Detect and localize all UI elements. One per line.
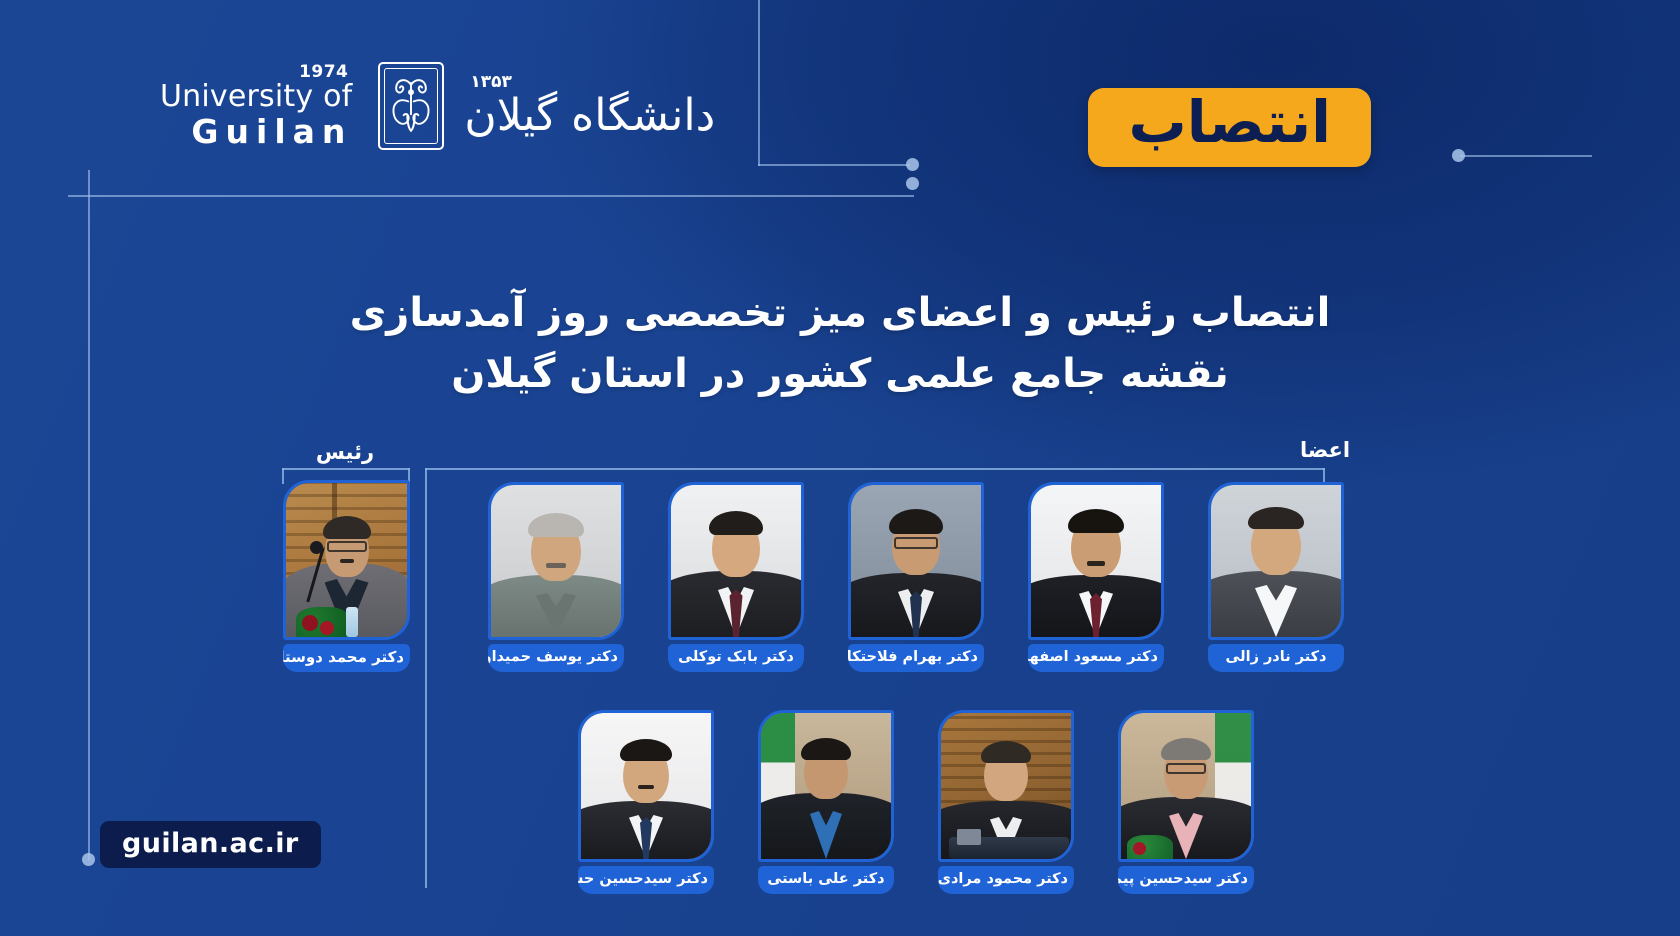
logo-name-english: Guilan: [160, 115, 352, 149]
person-photo: [668, 482, 804, 640]
person-card-member[interactable]: دکتر محمود مرادی: [938, 710, 1074, 894]
logo-name-persian: دانشگاه گیلان: [464, 94, 715, 138]
logo-year-shamsi: ۱۳۵۳: [470, 74, 715, 91]
person-card-member[interactable]: دکتر نادر زالی: [1208, 482, 1344, 672]
poster-canvas: 1974 University of Guilan ۱۳۵۳ دانشگاه گ…: [0, 0, 1680, 936]
website-url-badge[interactable]: guilan.ac.ir: [100, 821, 321, 868]
chair-group-label: رئیس: [260, 440, 430, 464]
person-photo: [758, 710, 894, 862]
person-card-member[interactable]: دکتر سیدحسین پیمان: [1118, 710, 1254, 894]
butterfly-emblem-icon: [378, 62, 444, 150]
logo-university-word: University of: [160, 82, 352, 113]
person-photo: [1118, 710, 1254, 862]
person-photo: [1028, 482, 1164, 640]
logo-english-text: 1974 University of Guilan: [160, 64, 366, 149]
person-photo: [938, 710, 1074, 862]
person-photo: [488, 482, 624, 640]
person-name: دکتر محمد دوستار: [283, 644, 410, 672]
person-name: دکتر بهرام فلاحتکار: [848, 644, 984, 672]
person-card-member[interactable]: دکتر علی باستی: [758, 710, 894, 894]
page-title: انتصاب رئیس و اعضای میز تخصصی روز آمدساز…: [0, 283, 1680, 405]
person-card-member[interactable]: دکتر بابک توکلی: [668, 482, 804, 672]
appointment-badge: انتصاب: [1088, 88, 1371, 167]
person-photo: [578, 710, 714, 862]
person-card-member[interactable]: دکتر مسعود اصفهانی: [1028, 482, 1164, 672]
logo-persian-text: ۱۳۵۳ دانشگاه گیلان: [456, 74, 715, 138]
person-photo: [848, 482, 984, 640]
university-logo: 1974 University of Guilan ۱۳۵۳ دانشگاه گ…: [160, 62, 715, 150]
title-line-2: نقشه جامع علمی کشور در استان گیلان: [0, 344, 1680, 405]
person-photo: [1208, 482, 1344, 640]
person-name: دکتر سیدحسین پیمان: [1118, 866, 1254, 894]
person-name: دکتر سیدحسین حسینی مقدم: [578, 866, 714, 894]
deco-dot-footer: [82, 853, 95, 866]
deco-line-vertical-left: [88, 170, 90, 860]
person-name: دکتر محمود مرادی: [938, 866, 1074, 894]
title-line-1: انتصاب رئیس و اعضای میز تخصصی روز آمدساز…: [0, 283, 1680, 344]
person-name: دکتر بابک توکلی: [668, 644, 804, 672]
person-name: دکتر علی باستی: [758, 866, 894, 894]
person-name: دکتر یوسف حمیداوغلی: [488, 644, 624, 672]
person-photo: [283, 480, 410, 640]
person-card-member[interactable]: دکتر بهرام فلاحتکار: [848, 482, 984, 672]
person-name: دکتر مسعود اصفهانی: [1028, 644, 1164, 672]
person-card-chair[interactable]: دکتر محمد دوستار: [283, 480, 410, 672]
person-card-member[interactable]: دکتر سیدحسین حسینی مقدم: [578, 710, 714, 894]
members-group-label: اعضا: [1260, 438, 1390, 462]
person-card-member[interactable]: دکتر یوسف حمیداوغلی: [488, 482, 624, 672]
person-name: دکتر نادر زالی: [1208, 644, 1344, 672]
header-region: 1974 University of Guilan ۱۳۵۳ دانشگاه گ…: [0, 0, 1680, 215]
